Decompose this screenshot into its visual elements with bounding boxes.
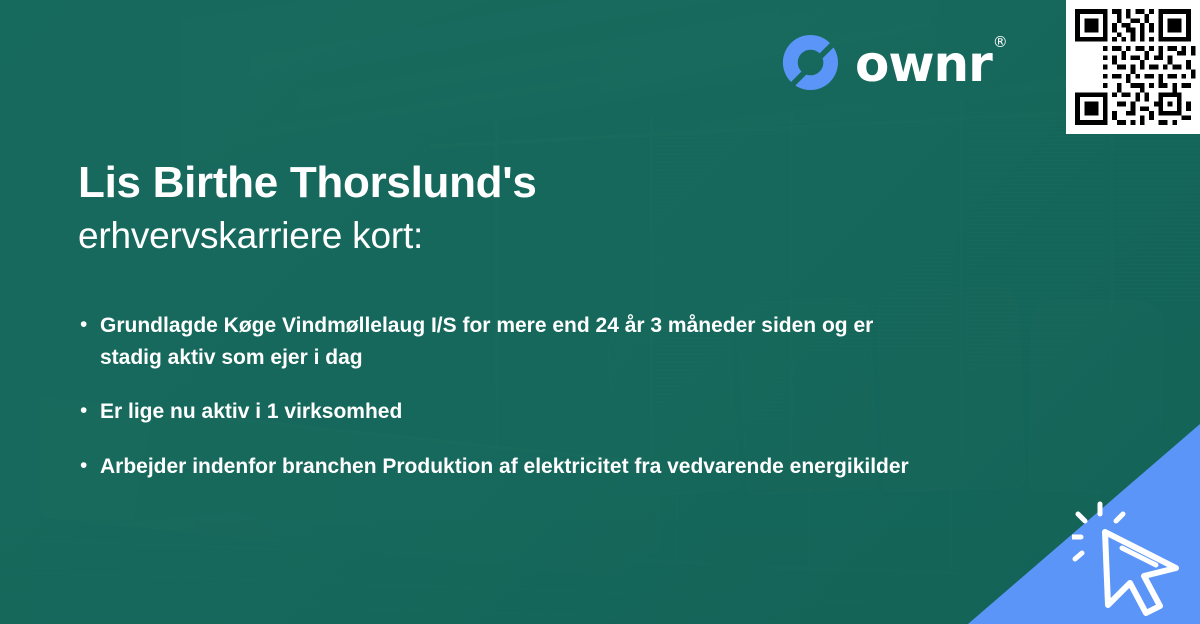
list-item-text: Arbejder indenfor branchen Produktion af… [100, 451, 909, 483]
ownr-wordmark: ownr® [855, 39, 1006, 89]
bullet-icon: • [80, 396, 100, 426]
bullet-icon: • [80, 451, 100, 481]
career-facts-list: • Grundlagde Køge Vindmøllelaug I/S for … [80, 310, 960, 505]
qr-code-icon[interactable] [1066, 0, 1200, 134]
registered-trademark-icon: ® [993, 33, 1007, 51]
list-item-text: Grundlagde Køge Vindmøllelaug I/S for me… [100, 310, 930, 373]
headline-subtitle: erhvervskarriere kort: [78, 213, 978, 259]
ownr-logo[interactable]: ownr® [779, 31, 1006, 94]
list-item: • Grundlagde Køge Vindmøllelaug I/S for … [80, 310, 960, 373]
wordmark-text: ownr [855, 35, 992, 93]
headline-person-name: Lis Birthe Thorslund's [78, 158, 978, 207]
list-item-text: Er lige nu aktiv i 1 virksomhed [100, 396, 402, 428]
ownr-circle-logo-icon [779, 31, 842, 94]
list-item: • Er lige nu aktiv i 1 virksomhed [80, 396, 960, 428]
share-card: ownr® Lis Birthe Thorslund's erhvervskar… [0, 0, 1200, 624]
list-item: • Arbejder indenfor branchen Produktion … [80, 451, 960, 483]
page-title: Lis Birthe Thorslund's erhvervskarriere … [78, 158, 978, 260]
click-cursor-icon [1072, 496, 1192, 616]
bullet-icon: • [80, 310, 100, 340]
